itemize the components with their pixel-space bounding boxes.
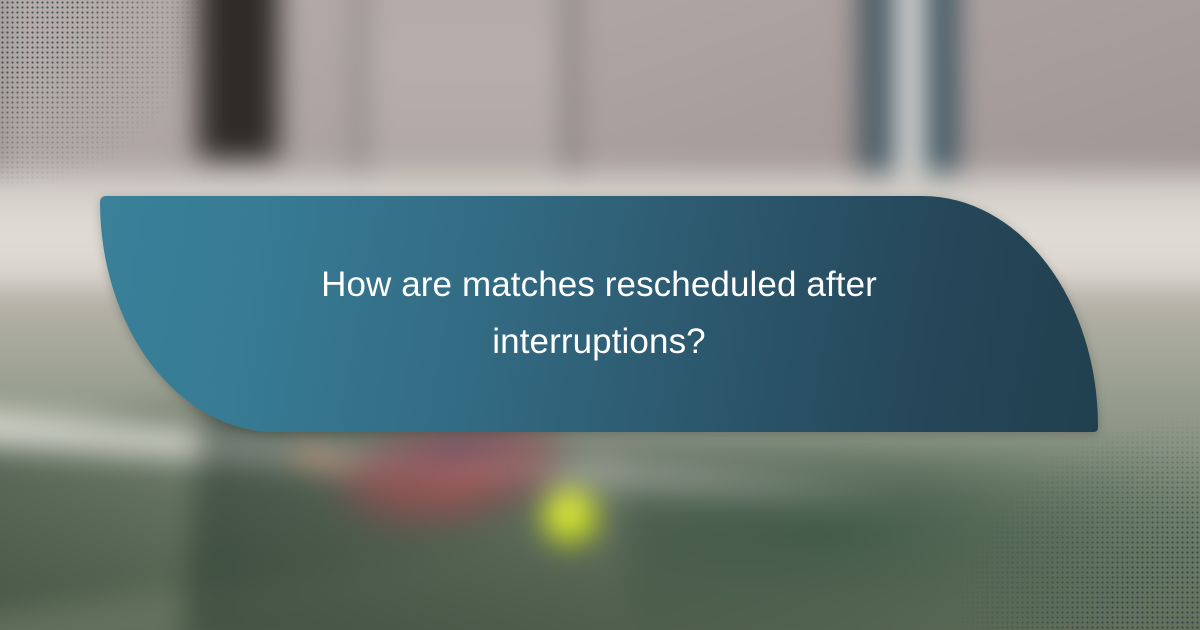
share-card-canvas: How are matches rescheduled after interr… bbox=[0, 0, 1200, 630]
post-gap-highlight bbox=[893, 0, 926, 180]
headline-banner: How are matches rescheduled after interr… bbox=[100, 196, 1098, 432]
fence-panel-right bbox=[933, 0, 1200, 180]
metal-post-right bbox=[926, 0, 955, 173]
metal-post-left bbox=[862, 0, 893, 173]
tennis-ball bbox=[542, 489, 598, 546]
headline-text: How are matches rescheduled after interr… bbox=[259, 257, 939, 370]
dark-pole bbox=[197, 0, 279, 159]
fence-panel-middle bbox=[574, 0, 856, 187]
